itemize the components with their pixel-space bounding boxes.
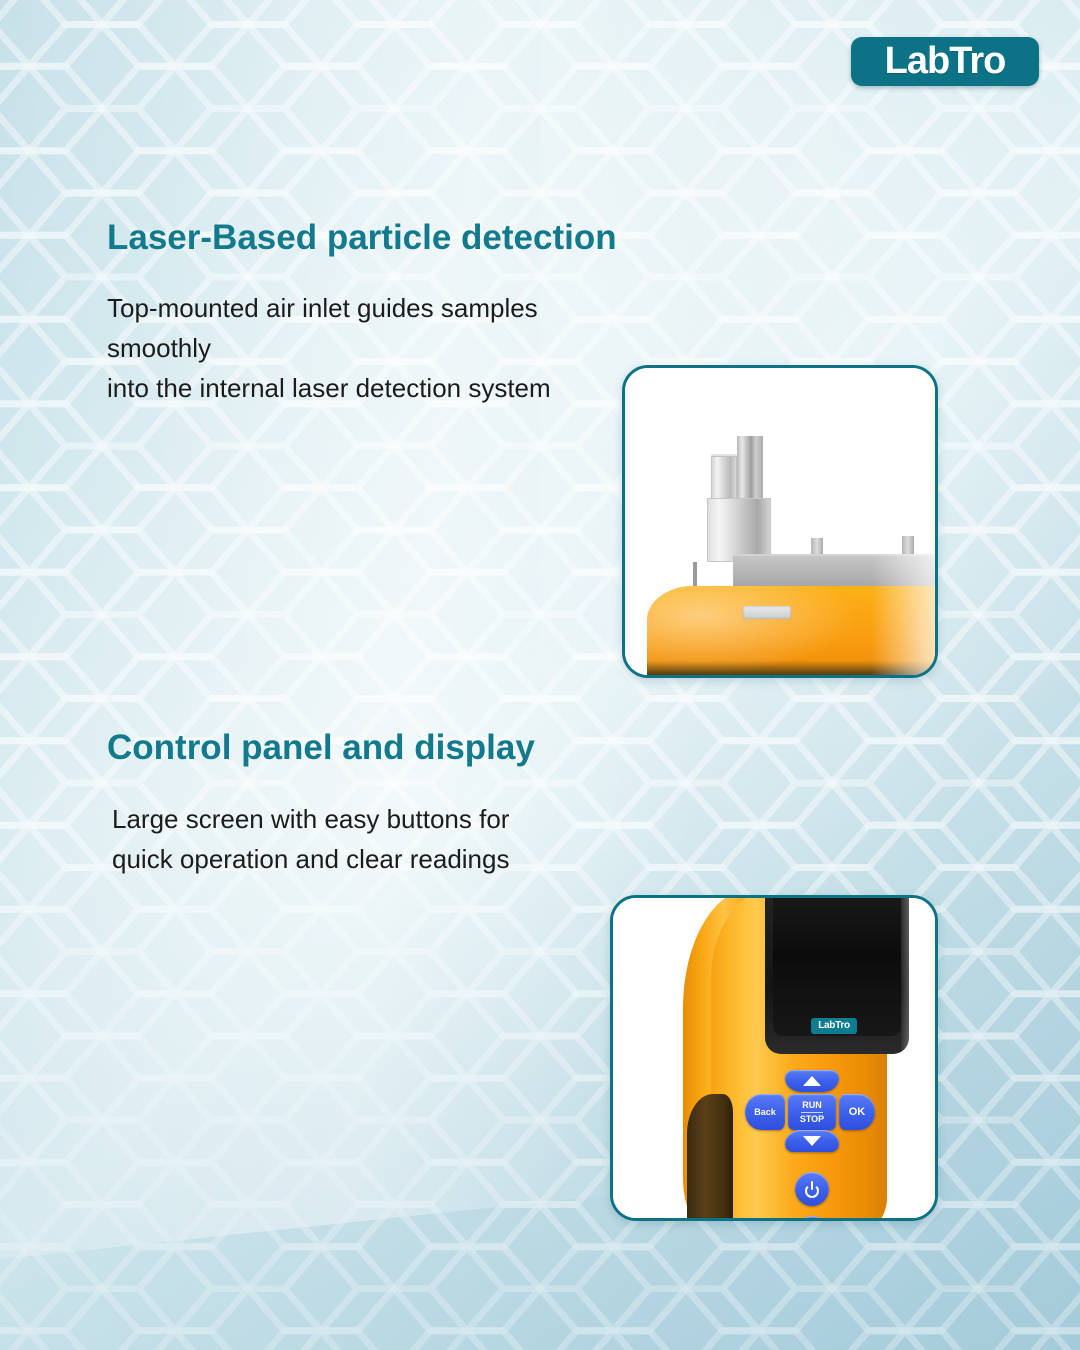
device-display-screen <box>773 898 901 1036</box>
power-icon <box>804 1181 820 1197</box>
section-1-body-line-3: into the internal laser detection system <box>107 368 551 408</box>
section-1-body-line-1: Top-mounted air inlet guides samples <box>107 288 551 328</box>
device-up-button <box>785 1070 839 1092</box>
device-ok-button: OK <box>839 1094 875 1130</box>
air-inlet-photo <box>625 368 935 675</box>
device-stop-label: STOP <box>800 1114 824 1125</box>
photo-right-fade-2 <box>901 898 935 1218</box>
device-back-button: Back <box>745 1094 785 1130</box>
section-2-body-line-2: quick operation and clear readings <box>112 839 509 879</box>
control-panel-photo: LabTro Back RUN STOP OK P <box>613 898 935 1218</box>
inlet-collar <box>707 498 771 562</box>
section-2-body-line-1: Large screen with easy buttons for <box>112 799 509 839</box>
section-2-body: Large screen with easy buttons for quick… <box>112 799 509 879</box>
device-run-label: RUN <box>802 1100 822 1111</box>
device-brand-badge: LabTro <box>811 1018 857 1034</box>
chevron-up-icon <box>803 1076 821 1086</box>
section-1-heading: Laser-Based particle detection <box>107 218 617 257</box>
section-2-heading: Control panel and display <box>107 728 535 767</box>
brand-logo: LabTro <box>851 37 1039 86</box>
device-rubber-grip <box>687 1094 733 1218</box>
section-1-body-line-2: smoothly <box>107 328 551 368</box>
device-run-stop-button: RUN STOP <box>788 1094 836 1130</box>
device-brand-badge-text: LabTro <box>818 1021 850 1031</box>
section-1-photo-card <box>622 365 938 678</box>
device-ok-button-label: OK <box>849 1106 866 1118</box>
device-down-button <box>785 1130 839 1152</box>
device-power-button <box>795 1172 829 1206</box>
device-silver-label <box>743 606 791 619</box>
device-back-button-label: Back <box>754 1107 776 1117</box>
poster-canvas: LabTro Laser-Based particle detection To… <box>0 0 1080 1350</box>
section-1-body: Top-mounted air inlet guides samples smo… <box>107 288 551 408</box>
chevron-down-icon <box>803 1136 821 1146</box>
section-2-photo-card: LabTro Back RUN STOP OK P <box>610 895 938 1221</box>
photo-right-fade <box>871 554 935 675</box>
brand-logo-text: LabTro <box>885 42 1006 80</box>
run-stop-divider <box>801 1112 823 1113</box>
